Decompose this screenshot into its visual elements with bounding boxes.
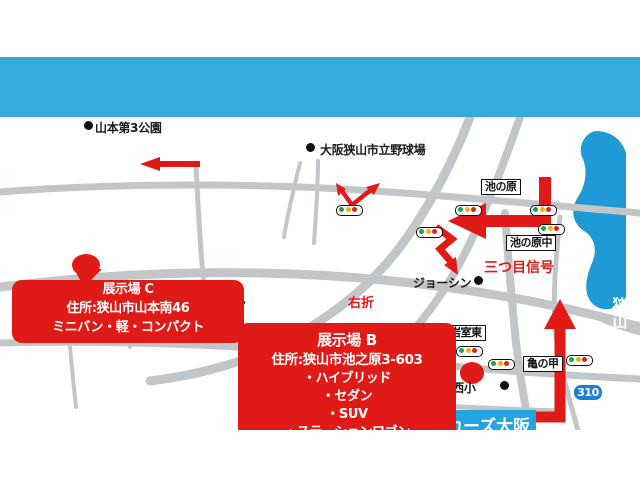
callout-showroom-b[interactable]: 展示場 B 住所:狭山市池之原3-603 ・ハイブリッド ・セダン ・SUV ・…: [238, 323, 456, 430]
intersection-kamenoko: 亀の甲: [523, 356, 563, 372]
traffic-signal-3: [530, 205, 557, 216]
place-label-baseball-stadium: 大阪狭山市立野球場: [320, 141, 425, 158]
callout-b-name: 展示場 B: [238, 323, 456, 351]
traffic-signal-1: [336, 205, 363, 216]
map-page: 展示場Ｂ 展示場Ｃ 案内ＭＡＰ: [0, 0, 640, 480]
callout-b-item-1: ・セダン: [238, 388, 456, 406]
traffic-signal-5: [488, 359, 515, 370]
callout-b-item-0: ・ハイブリッド: [238, 370, 456, 388]
traffic-signal-ikenohara-naka: [538, 224, 565, 235]
callout-showroom-c[interactable]: 展示場 C 住所:狭山市山本南46 ミニバン・軽・コンパクト: [12, 280, 244, 343]
traffic-signal-kamenoko: [566, 355, 593, 366]
label-third-signal: 三つ目信号: [484, 257, 554, 277]
place-label-yamamoto-park: 山本第3公園: [95, 119, 162, 136]
marker-joshin: [474, 276, 483, 285]
marker-baseball-stadium: [306, 143, 315, 152]
map-canvas[interactable]: 狭山池 山本第3公園 大阪狭山市立野球場 ローソン ジョーシン 大阪狭山郵便局 …: [0, 117, 640, 430]
route-arrow-west: [140, 157, 200, 171]
place-label-joshin: ジョーシン: [413, 274, 471, 291]
marker-nishi-elementary: [500, 381, 509, 390]
sayama-pond-shape: [573, 131, 626, 309]
marker-yamamoto-park: [84, 121, 93, 130]
callout-c-types: ミニバン・軽・コンパクト: [12, 318, 244, 337]
callout-b-address: 住所:狭山市池之原3-603: [238, 351, 456, 370]
traffic-signal-2: [455, 205, 482, 216]
intersection-ikenohara-naka: 池の原中: [506, 235, 556, 251]
callout-b-item-3: ・ステーションワゴン: [238, 424, 456, 430]
callout-c-address: 住所:狭山市山本南46: [12, 299, 244, 318]
intersection-ikenohara: 池の原: [481, 179, 521, 195]
lake-label: 狭山池: [612, 297, 628, 348]
traffic-signal-post-office: [456, 346, 483, 357]
route-shield-310: 310: [573, 384, 603, 401]
label-turn-right: 右折: [348, 292, 374, 311]
callout-c-name: 展示場 C: [12, 280, 244, 299]
callout-b-item-2: ・SUV: [238, 406, 456, 424]
traffic-signal-4: [416, 227, 443, 238]
showroom-c-pin: [72, 254, 100, 276]
header-banner: 展示場Ｂ 展示場Ｃ 案内ＭＡＰ: [0, 57, 640, 117]
